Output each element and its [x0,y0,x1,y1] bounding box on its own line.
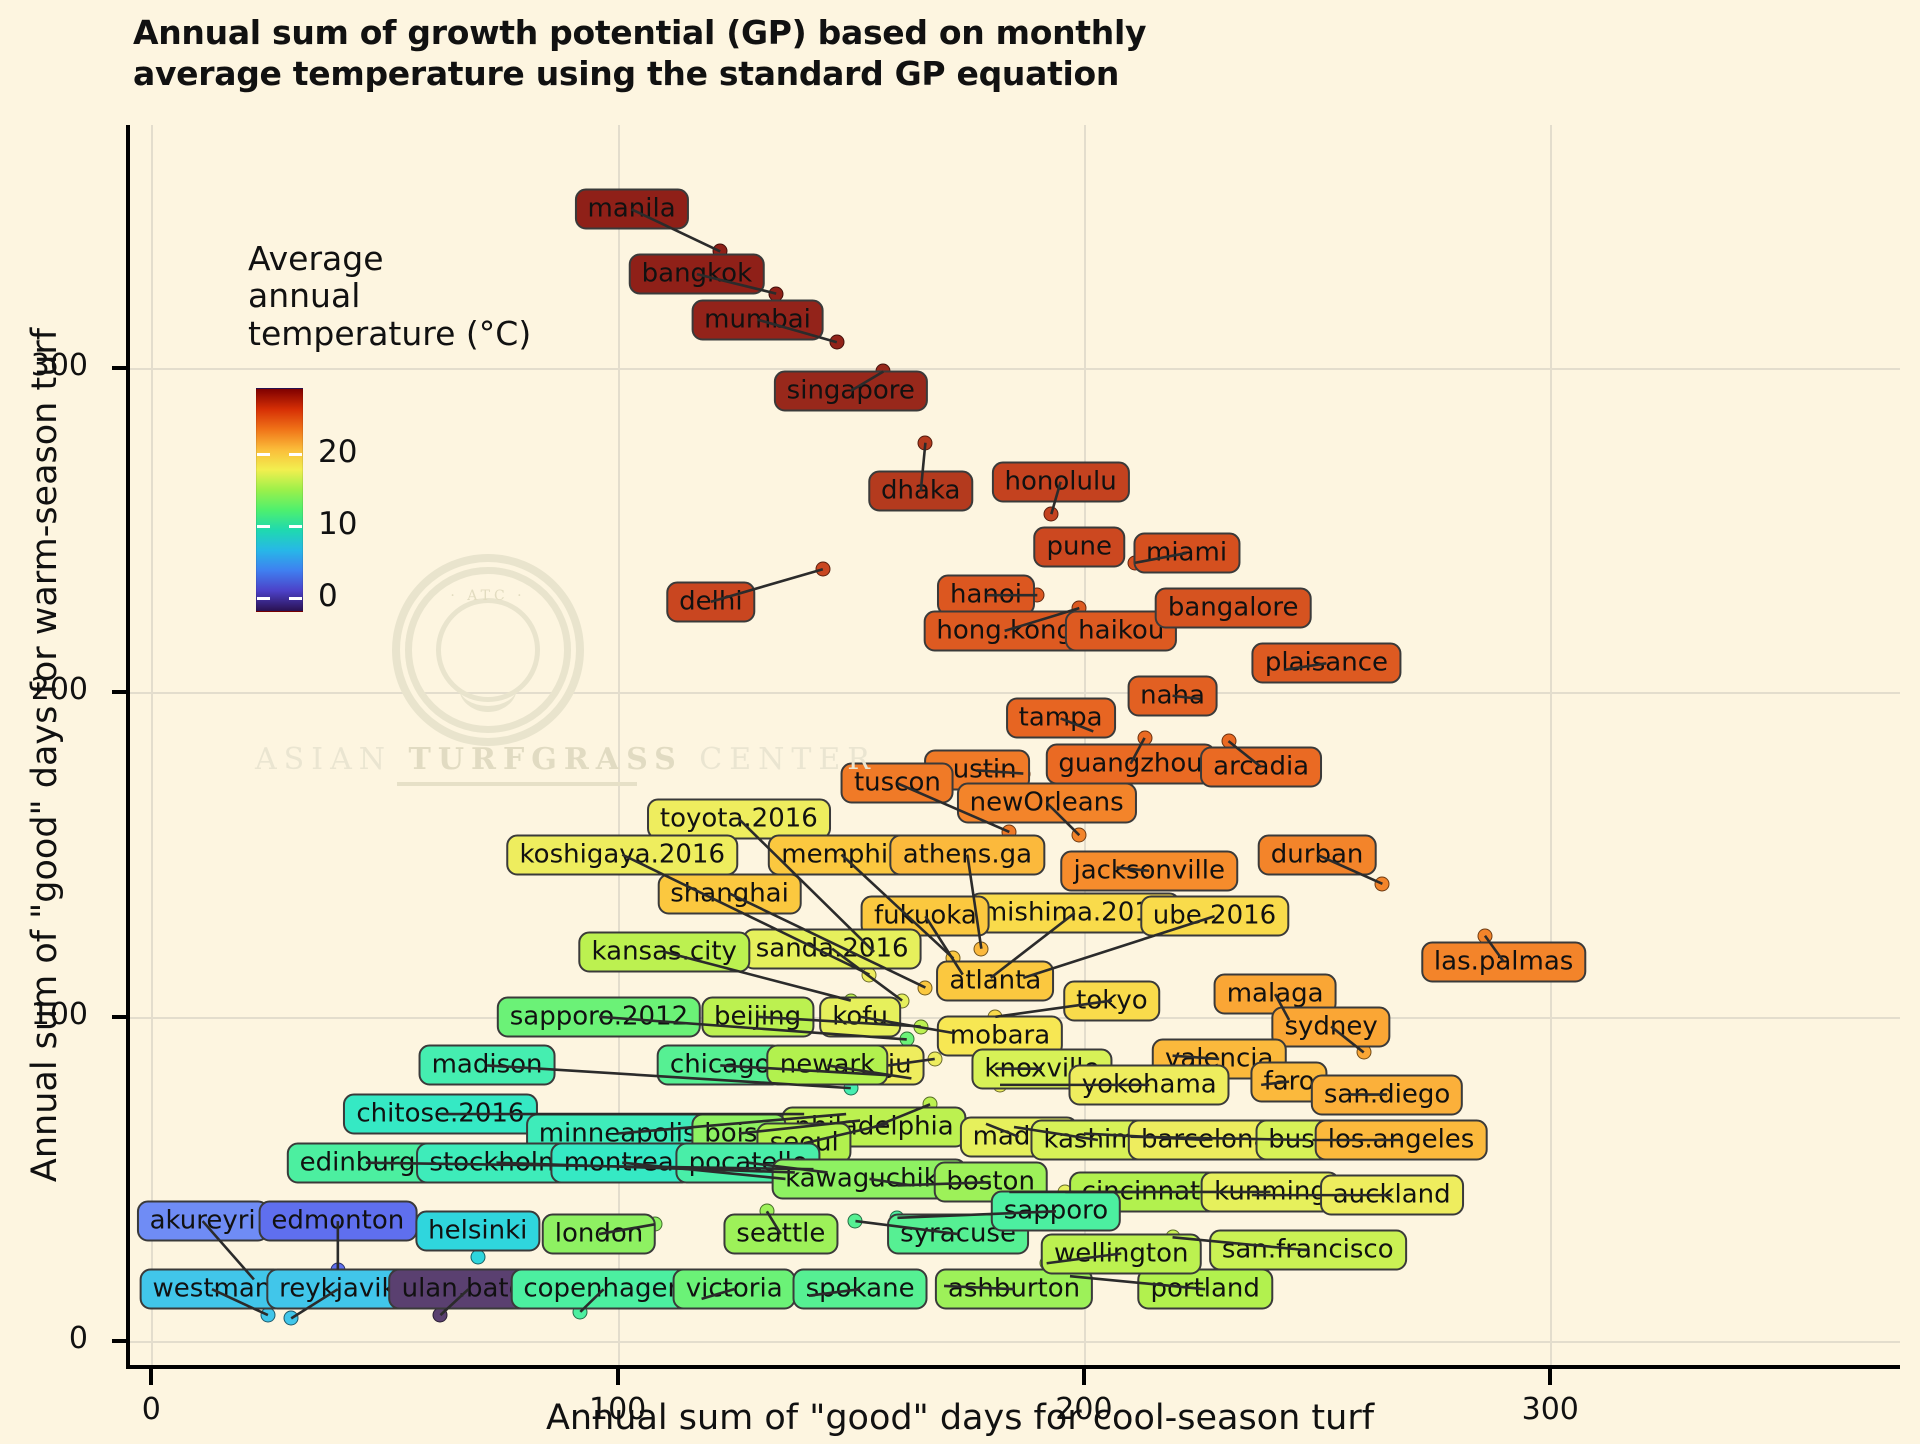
data-point[interactable] [913,1019,928,1034]
point-label[interactable]: atlanta [936,961,1054,1002]
colorbar-tick [289,597,302,600]
chart-root: Annual sum of growth potential (GP) base… [0,0,1920,1444]
point-label[interactable]: naha [1127,675,1218,716]
point-label[interactable]: athens.ga [890,834,1045,875]
point-label[interactable]: pune [1034,526,1125,567]
point-label[interactable]: ashburton [935,1269,1093,1310]
data-point[interactable] [284,1311,299,1326]
point-label[interactable]: yokohama [1069,1064,1230,1105]
point-label[interactable]: helsinki [415,1210,540,1251]
y-axis-tick [112,1015,128,1019]
point-label[interactable]: portland [1137,1269,1272,1310]
point-label[interactable]: newark [767,1045,888,1086]
data-point[interactable] [1072,828,1087,843]
point-label[interactable]: las.palmas [1421,941,1586,982]
point-label[interactable]: beijing [701,996,814,1037]
data-point[interactable] [918,435,933,450]
point-label[interactable]: miami [1133,533,1240,574]
point-label[interactable]: westman [140,1269,285,1310]
colorbar [256,388,303,612]
point-label[interactable]: bangalore [1155,588,1312,629]
colorbar-tick [257,597,270,600]
point-label[interactable]: chicago [657,1045,784,1086]
point-label[interactable]: shanghai [657,873,802,914]
point-label[interactable]: tuscon [841,763,954,804]
point-label[interactable]: koshigaya.2016 [507,834,738,875]
point-label[interactable]: spokane [793,1269,928,1310]
point-label[interactable]: auckland [1320,1175,1464,1216]
data-point[interactable] [918,980,933,995]
y-axis-tick [112,366,128,370]
gridline-vertical [151,125,153,1365]
data-point[interactable] [470,1249,485,1264]
data-point[interactable] [1356,1045,1371,1060]
point-label[interactable]: arcadia [1200,747,1322,788]
point-label[interactable]: victoria [673,1269,796,1310]
title-line-1: Annual sum of growth potential (GP) base… [133,13,1146,52]
color-legend: Average annual temperature (°C) 20100 [248,240,531,352]
gridline-horizontal [128,692,1900,694]
point-label[interactable]: los.angeles [1315,1120,1488,1161]
point-label[interactable]: edmonton [258,1201,417,1242]
point-label[interactable]: sapporo [991,1191,1121,1232]
point-label[interactable]: copenhagen [510,1269,697,1310]
data-point[interactable] [829,335,844,350]
x-axis-line [126,1365,1900,1369]
colorbar-tick-label: 10 [318,506,357,542]
colorbar-tick-label: 20 [318,434,357,470]
point-label[interactable]: bangkok [629,254,766,295]
y-axis-tick-label: 0 [69,1321,88,1356]
colorbar-tick [289,453,302,456]
page-title: Annual sum of growth potential (GP) base… [133,12,1433,95]
data-point[interactable] [848,1214,863,1229]
gridline-horizontal [128,368,1900,370]
point-label[interactable]: mumbai [691,299,824,340]
y-axis-tick [112,1339,128,1343]
title-line-2: average temperature using the standard G… [133,53,1433,94]
y-axis-tick [112,690,128,694]
x-axis-tick [616,1369,620,1385]
point-label[interactable]: tampa [1006,698,1116,739]
data-point[interactable] [1375,876,1390,891]
x-axis-tick [149,1369,153,1385]
colorbar-tick-label: 0 [318,578,338,614]
point-label[interactable]: london [542,1214,657,1255]
point-label[interactable]: montreal [551,1142,694,1183]
point-label[interactable]: plaisance [1252,643,1401,684]
point-label[interactable]: kofu [819,996,901,1037]
point-label[interactable]: sydney [1271,1006,1390,1047]
data-point[interactable] [862,967,877,982]
point-label[interactable]: chitose.2016 [343,1094,537,1135]
point-label[interactable]: madison [419,1045,556,1086]
data-point[interactable] [433,1308,448,1323]
point-label[interactable]: guangzhou [1045,743,1215,784]
legend-title: Average annual temperature (°C) [248,240,531,352]
gridline-horizontal [128,1341,1900,1343]
x-axis-title: Annual sum of "good" days for cool-seaso… [0,1398,1920,1438]
gridline-vertical [1550,125,1552,1365]
x-axis-tick [1082,1369,1086,1385]
data-point[interactable] [974,941,989,956]
x-axis-tick [1548,1369,1552,1385]
data-point[interactable] [260,1308,275,1323]
point-label[interactable]: honolulu [992,461,1130,502]
point-label[interactable]: dhaka [868,471,973,512]
point-label[interactable]: sanda.2016 [743,928,922,969]
point-label[interactable]: wellington [1041,1233,1202,1274]
point-label[interactable]: jacksonville [1060,850,1238,891]
y-axis-title: Annual sum of "good" days for warm-seaso… [25,135,65,1375]
point-label[interactable]: delhi [666,581,755,622]
point-label[interactable]: seattle [723,1214,838,1255]
point-label[interactable]: manila [575,189,689,230]
point-label[interactable]: singapore [774,370,928,411]
y-axis-line [126,125,130,1369]
point-label[interactable]: san.diego [1311,1074,1463,1115]
data-point[interactable] [1044,507,1059,522]
point-label[interactable]: akureyri [137,1201,269,1242]
point-label[interactable]: san.francisco [1209,1230,1407,1271]
point-label[interactable]: newOrleans [957,782,1137,823]
colorbar-tick [257,453,270,456]
point-label[interactable]: kansas.city [579,931,750,972]
colorbar-tick [257,525,270,528]
point-label[interactable]: tokyo [1063,980,1161,1021]
point-label[interactable]: hong.kong [923,610,1086,651]
colorbar-tick [289,525,302,528]
point-label[interactable]: sapporo.2012 [497,996,701,1037]
data-point[interactable] [815,562,830,577]
point-label[interactable]: ube.2016 [1140,896,1289,937]
point-label[interactable]: durban [1258,834,1377,875]
